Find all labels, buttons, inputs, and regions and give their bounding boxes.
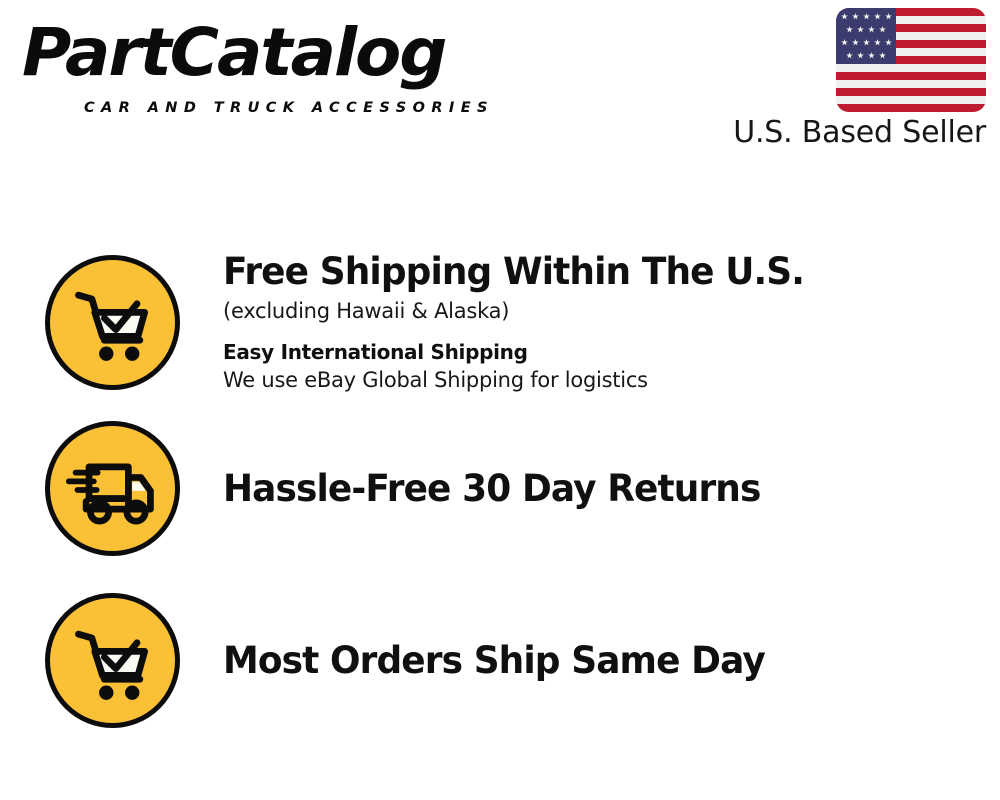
- brand-logo[interactable]: PartCatalog CAR AND TRUCK ACCESSORIES: [22, 18, 492, 113]
- brand-wordmark: PartCatalog: [22, 18, 445, 88]
- feature-row: Most Orders Ship Same Day: [0, 593, 1000, 728]
- shopping-cart-check-icon: [45, 593, 180, 728]
- delivery-truck-icon: [45, 421, 180, 556]
- feature-text-block: Hassle-Free 30 Day Returns: [223, 467, 1000, 511]
- feature-subhead-note: We use eBay Global Shipping for logistic…: [223, 366, 980, 394]
- us-flag-icon: [836, 8, 986, 112]
- feature-row: Hassle-Free 30 Day Returns: [0, 421, 1000, 556]
- feature-headline: Most Orders Ship Same Day: [223, 639, 957, 683]
- shopping-cart-check-icon: [45, 255, 180, 390]
- brand-tagline: CAR AND TRUCK ACCESSORIES: [84, 100, 494, 116]
- us-based-seller-label: U.S. Based Seller: [716, 116, 986, 150]
- feature-headline: Free Shipping Within The U.S.: [223, 250, 957, 294]
- page-header: PartCatalog CAR AND TRUCK ACCESSORIES: [0, 0, 1000, 175]
- feature-headline: Hassle-Free 30 Day Returns: [223, 467, 957, 511]
- us-based-seller-badge: U.S. Based Seller: [716, 8, 986, 150]
- feature-text-block: Free Shipping Within The U.S. (excluding…: [223, 250, 1000, 394]
- feature-text-block: Most Orders Ship Same Day: [223, 639, 1000, 683]
- feature-subhead: Easy International Shipping: [223, 339, 980, 365]
- feature-row: Free Shipping Within The U.S. (excluding…: [0, 250, 1000, 394]
- feature-subline: (excluding Hawaii & Alaska): [223, 297, 980, 325]
